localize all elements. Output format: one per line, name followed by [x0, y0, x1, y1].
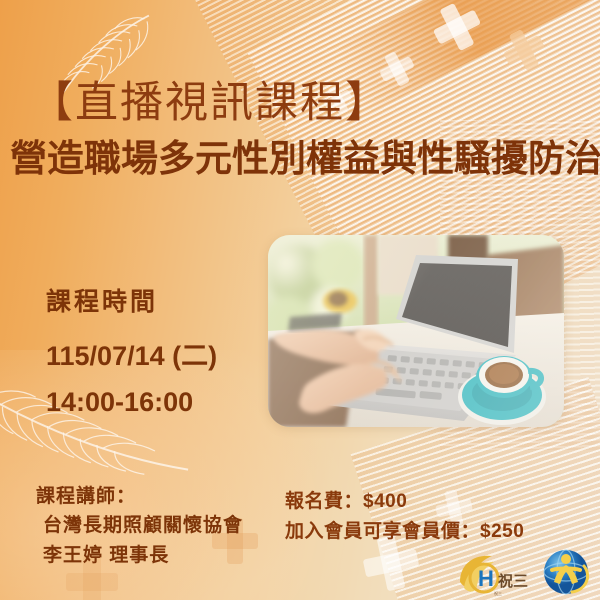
logo-group: H 祝三 祝三: [454, 546, 592, 598]
schedule-block: 課程時間 115/07/14 (二) 14:00-16:00: [46, 282, 217, 418]
course-poster: 【直播視訊課程】 營造職場多元性別權益與性騷擾防治 課程時間 115/07/14…: [0, 0, 600, 600]
page-title-bracketed: 【直播視訊課程】: [30, 68, 390, 130]
cross-shape-icon: [426, 0, 488, 58]
instructor-organization: 台灣長期照顧關懷協會: [36, 511, 243, 540]
schedule-time: 14:00-16:00: [46, 387, 217, 418]
zhusan-h-logo: H 祝三 祝三: [454, 548, 538, 598]
svg-text:祝三: 祝三: [494, 590, 502, 596]
instructor-label: 課程講師：: [36, 482, 243, 511]
laptop-photo: [268, 235, 564, 427]
instructor-block: 課程講師： 台灣長期照顧關懷協會 李王婷 理事長: [36, 482, 243, 570]
schedule-label: 課程時間: [46, 282, 217, 318]
page-title-main: 營造職場多元性別權益與性騷擾防治: [10, 128, 600, 182]
schedule-date: 115/07/14 (二): [46, 334, 217, 373]
registration-fee: 報名費：$400: [285, 487, 524, 517]
svg-text:H: H: [478, 566, 494, 591]
cross-shape-icon: [497, 23, 551, 77]
globe-figure-logo: [540, 546, 592, 598]
svg-text:祝三: 祝三: [498, 572, 528, 590]
member-price: 加入會員可享會員價：$250: [285, 517, 524, 547]
pricing-block: 報名費：$400 加入會員可享會員價：$250: [285, 487, 524, 548]
instructor-name: 李王婷 理事長: [36, 541, 243, 570]
